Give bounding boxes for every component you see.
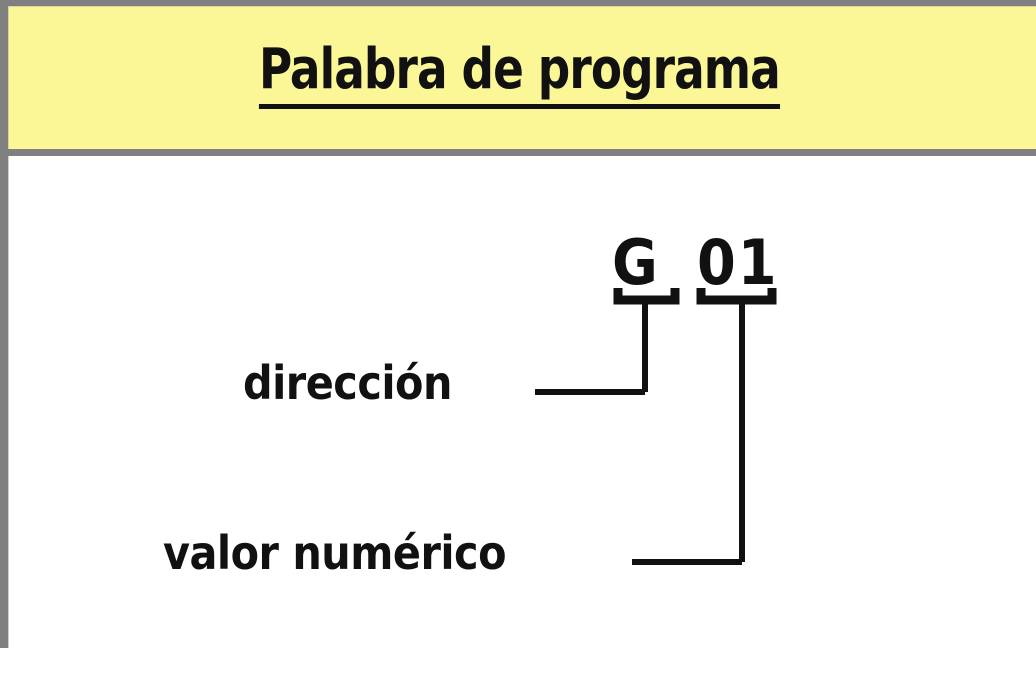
- callout-label-direccion: dirección: [243, 360, 452, 406]
- content-frame: [0, 156, 1036, 648]
- callout-label-valor-numerico: valor numérico: [163, 530, 506, 576]
- header-frame: Palabra de programa: [0, 0, 1036, 156]
- page-title-text: Palabra de programa: [259, 37, 780, 109]
- diagram-page: Palabra de programa G 01 dirección valor…: [0, 0, 1036, 674]
- page-title: Palabra de programa: [9, 37, 1029, 109]
- program-word-address: G: [612, 232, 658, 294]
- program-word-numeric-value: 01: [697, 232, 779, 294]
- header-banner: Palabra de programa: [8, 6, 1036, 149]
